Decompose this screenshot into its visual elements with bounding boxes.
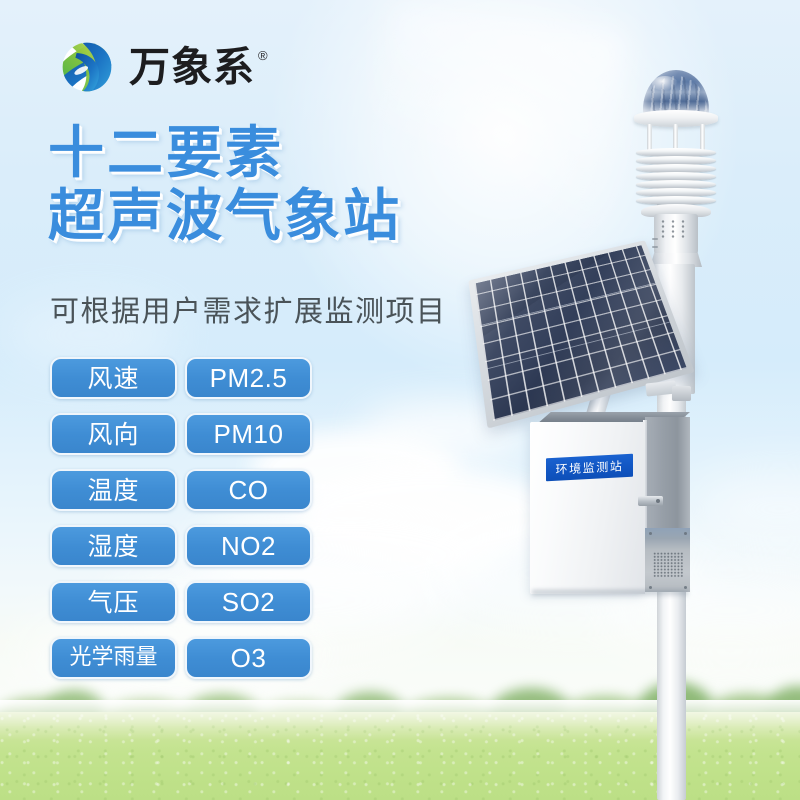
ultrasonic-sensor-dome — [643, 70, 709, 116]
vent-screw — [684, 586, 687, 589]
sensor-screw — [652, 246, 658, 248]
sensor-support-post — [700, 124, 705, 154]
radiation-shield — [636, 148, 716, 210]
pill-label: 风速 — [87, 366, 139, 391]
feature-pill-optical-rainfall[interactable]: 光学雨量 — [50, 637, 177, 679]
pill-label: CO — [229, 477, 269, 503]
pill-label: 湿度 — [87, 534, 139, 559]
shield-base — [641, 204, 711, 217]
headline-block: 十二要素 超声波气象站 — [48, 122, 478, 249]
sensor-taper — [650, 253, 702, 267]
sensor-vent-holes — [681, 219, 685, 239]
pill-label: 光学雨量 — [69, 647, 157, 669]
brand-name: 万象系 — [129, 47, 255, 88]
solar-panel-bracket — [585, 327, 629, 420]
cloud — [430, 520, 710, 628]
product-poster: 环境监测站 — [0, 0, 800, 800]
sensor-body — [654, 214, 698, 256]
solar-panel-clamp — [672, 386, 691, 401]
cloud — [360, 400, 530, 462]
vent-screw — [649, 532, 652, 535]
enclosure-vent-panel — [645, 528, 690, 592]
headline-line-1: 十二要素 — [48, 122, 478, 185]
sensor-screw — [652, 238, 658, 240]
sensor-support-post — [647, 124, 652, 154]
solar-panel-brace — [645, 380, 676, 396]
latch-screw — [656, 499, 660, 503]
registered-mark: ® — [258, 49, 268, 62]
vent-screw — [649, 586, 652, 589]
dome-collar — [634, 110, 718, 127]
feature-pill-air-pressure[interactable]: 气压 — [50, 581, 177, 623]
enclosure-top — [530, 412, 690, 426]
pill-label: PM2.5 — [210, 365, 288, 391]
feature-pill-humidity[interactable]: 湿度 — [50, 525, 177, 567]
pill-label: PM10 — [214, 421, 284, 447]
dome-facets — [645, 76, 707, 114]
enclosure-latch — [638, 496, 663, 506]
feature-pill-temperature[interactable]: 温度 — [50, 469, 177, 511]
enclosure-shadow — [532, 590, 688, 598]
vent-grille — [653, 552, 683, 578]
sensor-support-post — [673, 124, 678, 154]
pill-label: 风向 — [87, 422, 139, 447]
vent-screw — [684, 532, 687, 535]
cloud — [600, 560, 800, 660]
feature-pill-so2[interactable]: SO2 — [185, 581, 312, 623]
solar-panel — [478, 228, 678, 403]
cloud — [300, 468, 560, 564]
subtitle: 可根据用户需求扩展监测项目 — [50, 288, 447, 330]
cloud — [690, 470, 800, 548]
feature-pill-pm10[interactable]: PM10 — [185, 413, 312, 455]
equipment-enclosure — [530, 422, 645, 594]
feature-pill-o3[interactable]: O3 — [185, 637, 312, 679]
treeline — [0, 672, 800, 750]
brand-wordmark: 万象系 ® — [129, 47, 268, 88]
enclosure-edge — [643, 420, 647, 592]
enclosure-label-text: 环境监测站 — [555, 460, 623, 476]
mounting-pole — [657, 200, 686, 800]
pill-label: 气压 — [87, 590, 139, 615]
feature-pill-no2[interactable]: NO2 — [185, 525, 312, 567]
globe-swirl-logo-icon — [58, 38, 116, 96]
enclosure-nameplate: 环境监测站 — [546, 454, 633, 482]
brand-logo: 万象系 ® — [58, 38, 268, 96]
enclosure-side-panel — [645, 417, 690, 592]
grass-field — [0, 712, 800, 800]
dome-highlight — [652, 76, 678, 91]
pill-label: SO2 — [222, 589, 276, 615]
headline-line-2: 超声波气象站 — [48, 185, 478, 248]
feature-pill-wind-speed[interactable]: 风速 — [50, 357, 177, 399]
feature-pill-co[interactable]: CO — [185, 469, 312, 511]
horizon-haze — [0, 700, 800, 740]
feature-pill-pm25[interactable]: PM2.5 — [185, 357, 312, 399]
feature-pill-grid: 风速 PM2.5 风向 PM10 温度 CO 湿度 NO2 气压 SO2 光学雨… — [50, 357, 312, 679]
feature-pill-wind-direction[interactable]: 风向 — [50, 413, 177, 455]
sensor-vent-holes — [661, 219, 665, 239]
pill-label: NO2 — [221, 533, 276, 559]
pole-shading — [657, 200, 686, 800]
sensor-vent-holes — [671, 219, 675, 239]
pill-label: 温度 — [87, 478, 139, 503]
upper-pole-segment — [651, 264, 695, 394]
pill-label: O3 — [231, 645, 267, 671]
